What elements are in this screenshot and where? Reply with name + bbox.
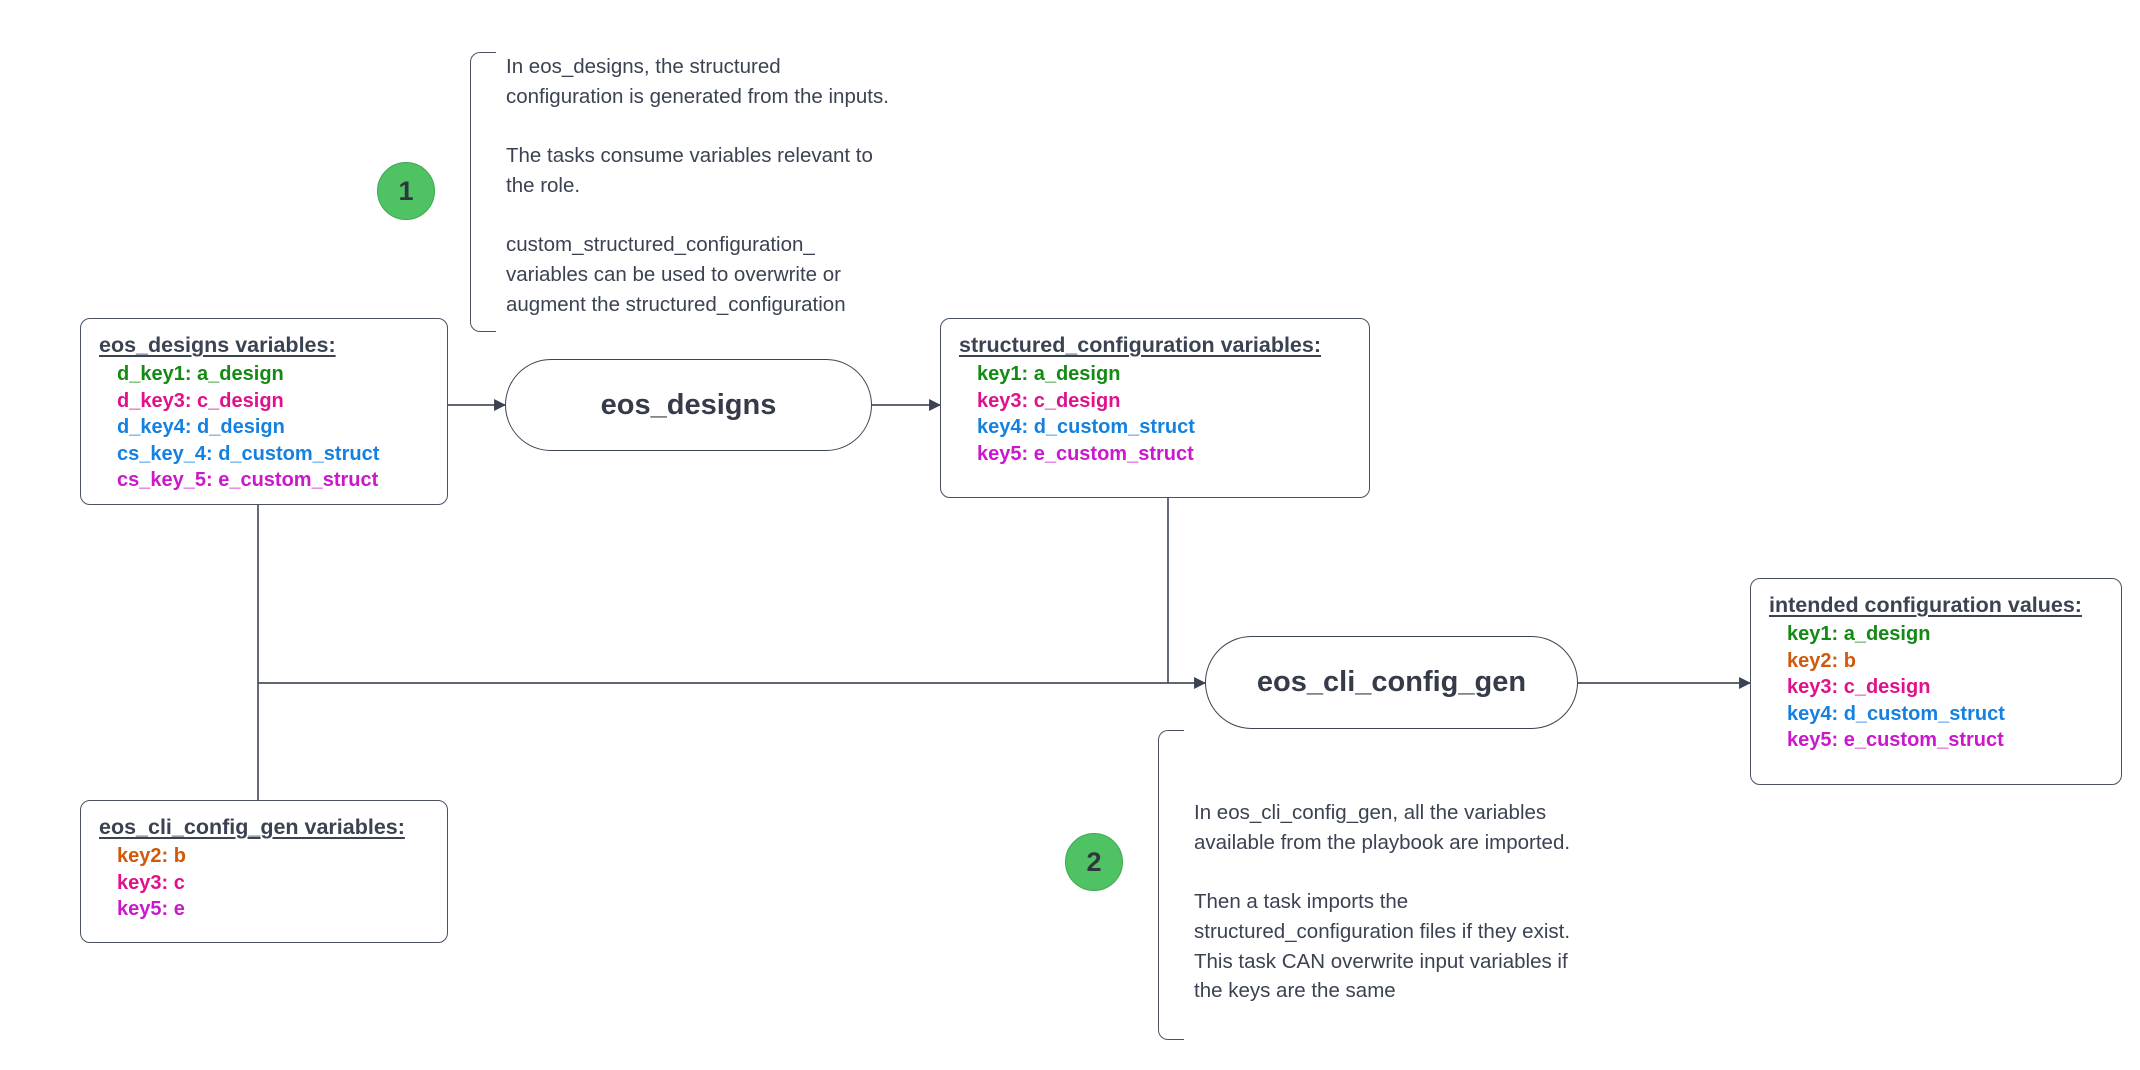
var-row: key5: e [99,896,429,923]
node-eos-cli-config-gen-label: eos_cli_config_gen [1257,666,1526,699]
callout-one-bracket [470,52,496,332]
var-row: key4: d_custom_struct [959,414,1351,441]
var-row: key2: b [1769,648,2103,675]
callout-two-bracket [1158,730,1184,1040]
box-title: eos_cli_config_gen variables: [99,815,429,840]
node-eos-designs[interactable]: eos_designs [505,359,872,451]
var-row: d_key1: a_design [99,361,429,388]
box-title: intended configuration values: [1769,593,2103,618]
box-intended-configuration-values[interactable]: intended configuration values: key1: a_d… [1750,578,2122,785]
callout-two-text: In eos_cli_config_gen, all the variables… [1194,798,1628,1006]
var-row: key4: d_custom_struct [1769,701,2103,728]
var-row: key5: e_custom_struct [959,441,1351,468]
box-eos-designs-variables[interactable]: eos_designs variables: d_key1: a_design … [80,318,448,505]
var-row: d_key4: d_design [99,414,429,441]
callout-two: In eos_cli_config_gen, all the variables… [1158,730,1628,1040]
diagram-canvas: In eos_designs, the structured configura… [0,0,2140,1070]
box-eos-cli-config-gen-variables[interactable]: eos_cli_config_gen variables: key2: b ke… [80,800,448,943]
var-row: key3: c_design [959,388,1351,415]
var-row: d_key3: c_design [99,388,429,415]
var-row: cs_key_4: d_custom_struct [99,441,429,468]
var-row: cs_key_5: e_custom_struct [99,467,429,494]
box-title: structured_configuration variables: [959,333,1351,358]
var-row: key3: c [99,870,429,897]
var-row: key3: c_design [1769,674,2103,701]
node-eos-designs-label: eos_designs [601,389,777,422]
node-eos-cli-config-gen[interactable]: eos_cli_config_gen [1205,636,1578,729]
callout-one: In eos_designs, the structured configura… [470,52,940,332]
box-structured-configuration-variables[interactable]: structured_configuration variables: key1… [940,318,1370,498]
var-row: key1: a_design [1769,621,2103,648]
var-row: key5: e_custom_struct [1769,727,2103,754]
callout-two-badge: 2 [1065,833,1123,891]
callout-one-badge: 1 [377,162,435,220]
box-title: eos_designs variables: [99,333,429,358]
callout-one-text: In eos_designs, the structured configura… [506,52,940,319]
var-row: key2: b [99,843,429,870]
var-row: key1: a_design [959,361,1351,388]
